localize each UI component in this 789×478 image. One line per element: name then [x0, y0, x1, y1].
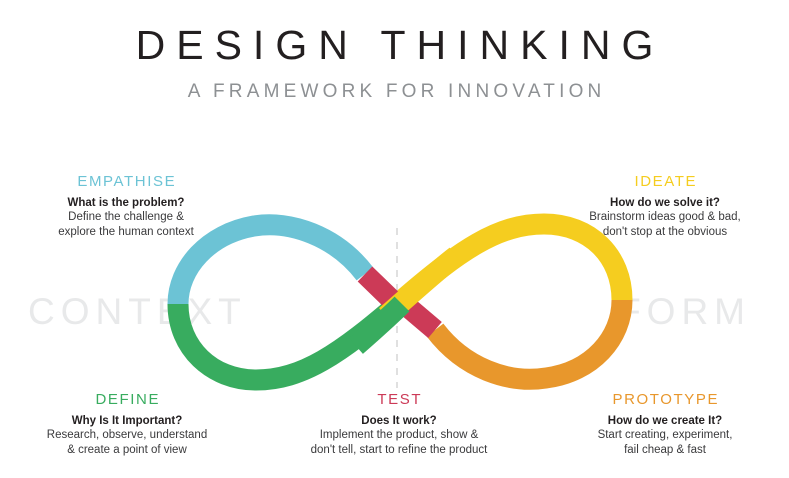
stage-ideate-line-1: Brainstorm ideas good & bad, [549, 210, 781, 225]
stage-prototype: PROTOTYPE How do we create It? Start cre… [549, 391, 781, 458]
stage-empathise: EMPATHISE What is the problem? Define th… [10, 173, 242, 240]
stage-define: DEFINE Why Is It Important? Research, ob… [11, 391, 243, 458]
stage-prototype-title: PROTOTYPE [549, 391, 781, 408]
stage-test-line-2: don't tell, start to refine the product [279, 443, 519, 458]
stage-define-line-2: & create a point of view [11, 443, 243, 458]
stage-empathise-line-2: explore the human context [10, 225, 242, 240]
stage-test-title: TEST [279, 391, 519, 408]
stage-empathise-question: What is the problem? [10, 197, 242, 209]
stage-empathise-title: EMPATHISE [10, 173, 242, 190]
stage-ideate: IDEATE How do we solve it? Brainstorm id… [549, 173, 781, 240]
page-header: DESIGN THINKING A FRAMEWORK FOR INNOVATI… [0, 0, 789, 103]
loop-segment-prototype [435, 300, 622, 379]
stage-ideate-line-2: don't stop at the obvious [549, 225, 781, 240]
stage-prototype-question: How do we create It? [549, 415, 781, 427]
stage-define-line-1: Research, observe, understand [11, 428, 243, 443]
stage-define-question: Why Is It Important? [11, 415, 243, 427]
stage-prototype-line-2: fail cheap & fast [549, 443, 781, 458]
stage-ideate-title: IDEATE [549, 173, 781, 190]
page-title: DESIGN THINKING [0, 0, 789, 67]
page-subtitle: A FRAMEWORK FOR INNOVATION [0, 67, 789, 103]
stage-define-title: DEFINE [11, 391, 243, 408]
stage-ideate-question: How do we solve it? [549, 197, 781, 209]
stage-empathise-line-1: Define the challenge & [10, 210, 242, 225]
stage-test-line-1: Implement the product, show & [279, 428, 519, 443]
stage-prototype-line-1: Start creating, experiment, [549, 428, 781, 443]
stage-test-question: Does It work? [279, 415, 519, 427]
stage-test: TEST Does It work? Implement the product… [279, 391, 519, 458]
